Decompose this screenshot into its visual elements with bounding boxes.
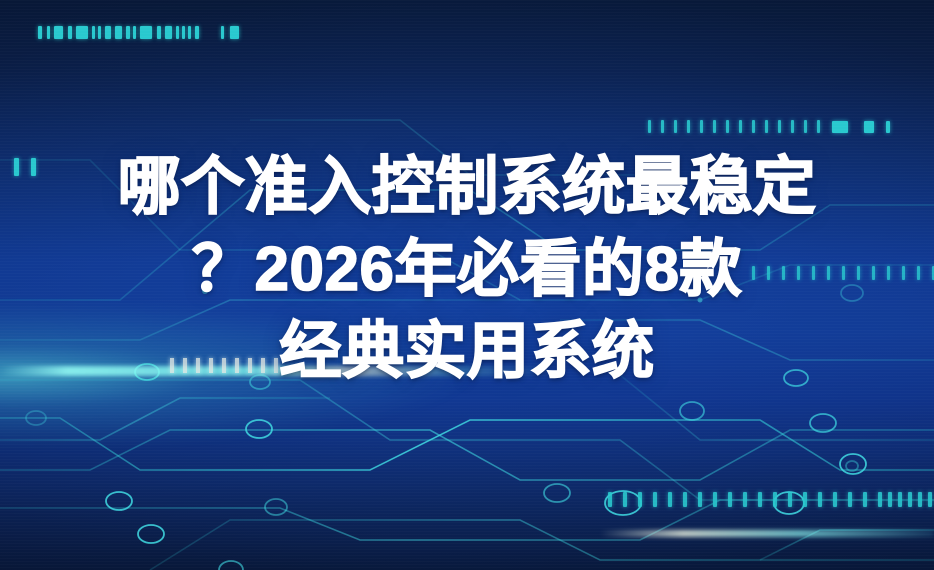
headline-block: 哪个准入控制系统最稳定 ？2026年必看的8款 经典实用系统 <box>0 146 934 393</box>
headline-line-1: 哪个准入控制系统最稳定 <box>0 146 934 229</box>
headline-line-2: ？2026年必看的8款 <box>0 229 934 311</box>
headline-line-3: 经典实用系统 <box>0 311 934 393</box>
poster-canvas: 哪个准入控制系统最稳定 ？2026年必看的8款 经典实用系统 <box>0 0 934 570</box>
